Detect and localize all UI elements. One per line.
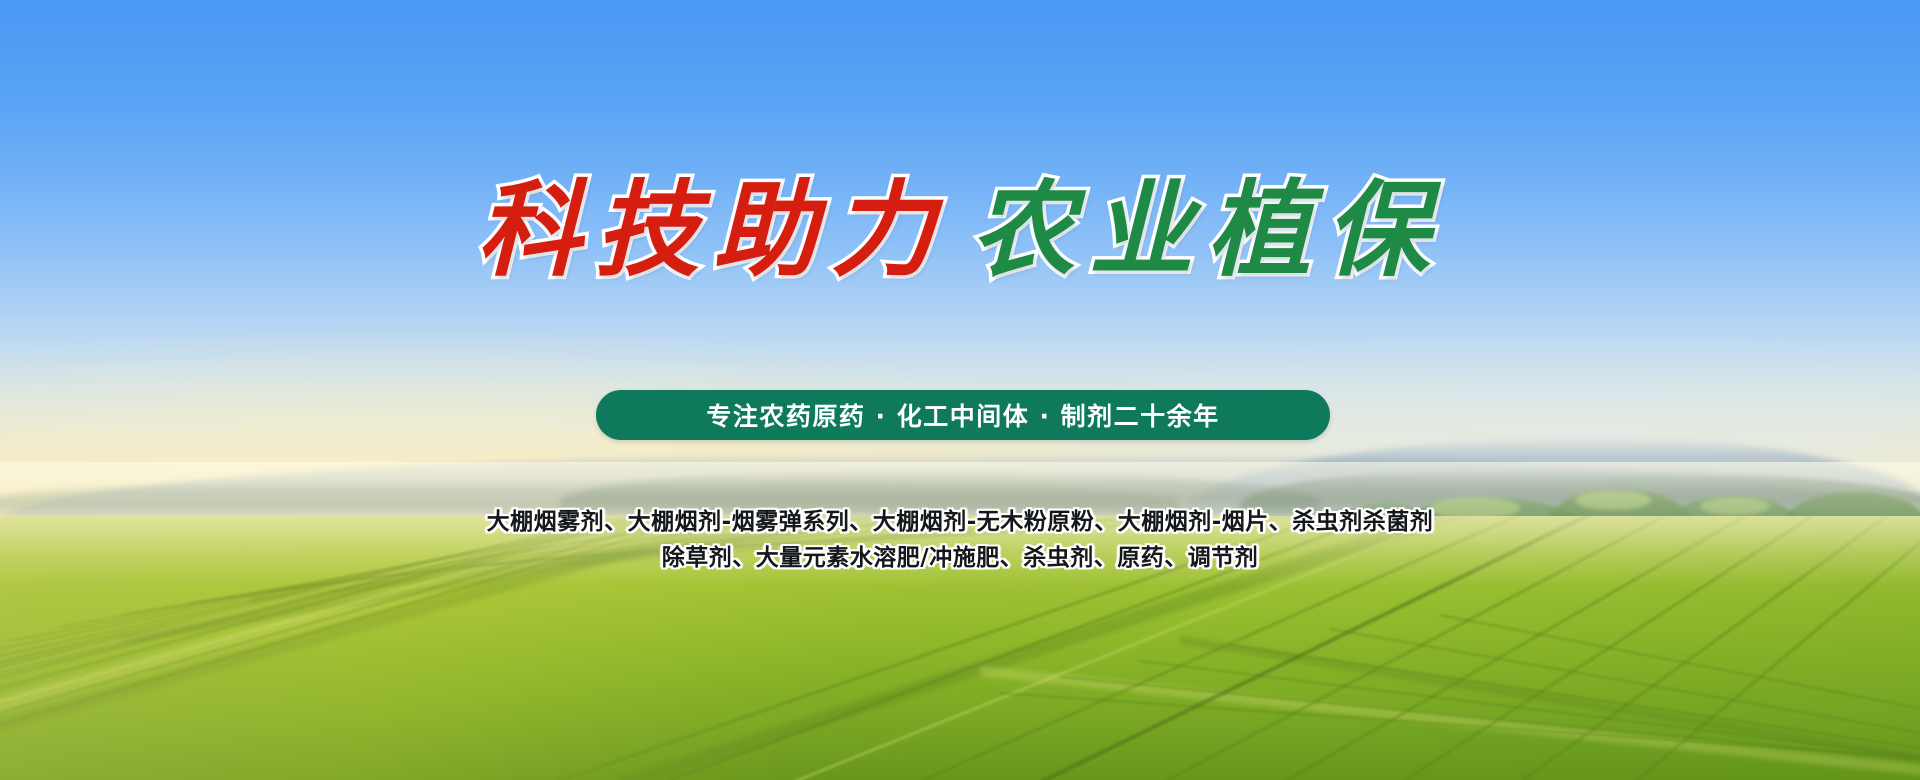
- hero-banner: 科技助力农业植保 专注农药原药 · 化工中间体 · 制剂二十余年 大棚烟雾剂、大…: [0, 0, 1920, 780]
- product-category-line-1: 大棚烟雾剂、大棚烟剂-烟雾弹系列、大棚烟剂-无木粉原粉、大棚烟剂-烟片、杀虫剂杀…: [0, 504, 1920, 540]
- tagline-badge-text: 专注农药原药 · 化工中间体 · 制剂二十余年: [706, 397, 1219, 433]
- product-category-line-2: 除草剂、大量元素水溶肥/冲施肥、杀虫剂、原药、调节剂: [0, 540, 1920, 576]
- headline-red-text: 科技助力: [477, 178, 949, 282]
- tagline-badge: 专注农药原药 · 化工中间体 · 制剂二十余年: [596, 390, 1330, 440]
- product-category-list: 大棚烟雾剂、大棚烟剂-烟雾弹系列、大棚烟剂-无木粉原粉、大棚烟剂-烟片、杀虫剂杀…: [0, 504, 1920, 576]
- page-title: 科技助力农业植保: [0, 178, 1920, 282]
- headline-green-text: 农业植保: [971, 178, 1443, 282]
